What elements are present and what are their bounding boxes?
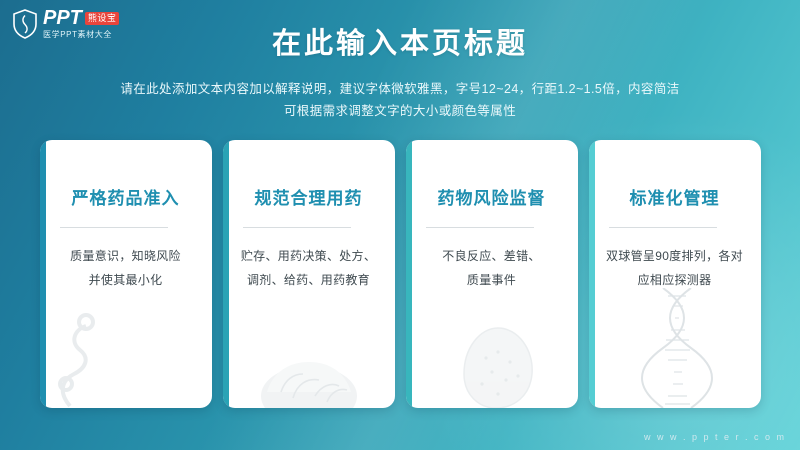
card-4-body-line-1: 双球管呈90度排列，各对 [605, 244, 745, 268]
card-4-title: 标准化管理 [605, 184, 745, 209]
card-3-divider [426, 227, 534, 228]
slide: PPT 熊设宝 医学PPT素材大全 在此输入本页标题 请在此处添加文本内容加以解… [0, 0, 800, 450]
card-3-content: 药物风险监督 不良反应、差错、 质量事件 [406, 140, 578, 292]
card-2-body-line-1: 贮存、用药决策、处方、 [239, 244, 379, 268]
logo-brand: PPT [43, 8, 82, 28]
card-row: 严格药品准入 质量意识，知晓风险 并使其最小化 [0, 140, 800, 408]
card-1-body-line-2: 并使其最小化 [56, 268, 196, 292]
card-3-body-line-1: 不良反应、差错、 [422, 244, 562, 268]
card-2-body: 贮存、用药决策、处方、 调剂、给药、用药教育 [239, 244, 379, 292]
card-1-title: 严格药品准入 [56, 184, 196, 209]
logo-tagline: 医学PPT素材大全 [43, 31, 119, 39]
card-2-content: 规范合理用药 贮存、用药决策、处方、 调剂、给药、用药教育 [223, 140, 395, 292]
card-3-body: 不良反应、差错、 质量事件 [422, 244, 562, 292]
card-1-content: 严格药品准入 质量意识，知晓风险 并使其最小化 [40, 140, 212, 292]
card-3-body-line-2: 质量事件 [422, 268, 562, 292]
card-4[interactable]: 标准化管理 双球管呈90度排列，各对 应相应探测器 [589, 140, 761, 408]
card-2-body-line-2: 调剂、给药、用药教育 [239, 268, 379, 292]
logo-badge: 熊设宝 [85, 12, 120, 25]
card-4-divider [609, 227, 717, 228]
card-3[interactable]: 药物风险监督 不良反应、差错、 质量事件 [406, 140, 578, 408]
brain-icon [223, 288, 395, 408]
card-2-divider [243, 227, 351, 228]
footer-url: w w w . p p t e r . c o m [644, 432, 786, 442]
logo: PPT 熊设宝 医学PPT素材大全 [12, 8, 119, 39]
dna-icon [589, 288, 761, 408]
card-1-body-line-1: 质量意识，知晓风险 [56, 244, 196, 268]
subtitle-line-1: 请在此处添加文本内容加以解释说明，建议字体微软雅黑，字号12~24，行距1.2~… [0, 78, 800, 100]
molecule-icon [40, 288, 212, 408]
card-1-divider [60, 227, 168, 228]
card-2-title: 规范合理用药 [239, 184, 379, 209]
card-2[interactable]: 规范合理用药 贮存、用药决策、处方、 调剂、给药、用药教育 [223, 140, 395, 408]
card-4-body-line-2: 应相应探测器 [605, 268, 745, 292]
card-4-content: 标准化管理 双球管呈90度排列，各对 应相应探测器 [589, 140, 761, 292]
card-3-title: 药物风险监督 [422, 184, 562, 209]
page-title: 在此输入本页标题 [0, 20, 800, 62]
card-4-body: 双球管呈90度排列，各对 应相应探测器 [605, 244, 745, 292]
logo-text: PPT 熊设宝 医学PPT素材大全 [43, 8, 119, 39]
organ-icon [406, 288, 578, 408]
card-1[interactable]: 严格药品准入 质量意识，知晓风险 并使其最小化 [40, 140, 212, 408]
page-subtitle: 请在此处添加文本内容加以解释说明，建议字体微软雅黑，字号12~24，行距1.2~… [0, 78, 800, 122]
shield-icon [12, 9, 38, 39]
card-1-body: 质量意识，知晓风险 并使其最小化 [56, 244, 196, 292]
subtitle-line-2: 可根据需求调整文字的大小或颜色等属性 [0, 100, 800, 122]
